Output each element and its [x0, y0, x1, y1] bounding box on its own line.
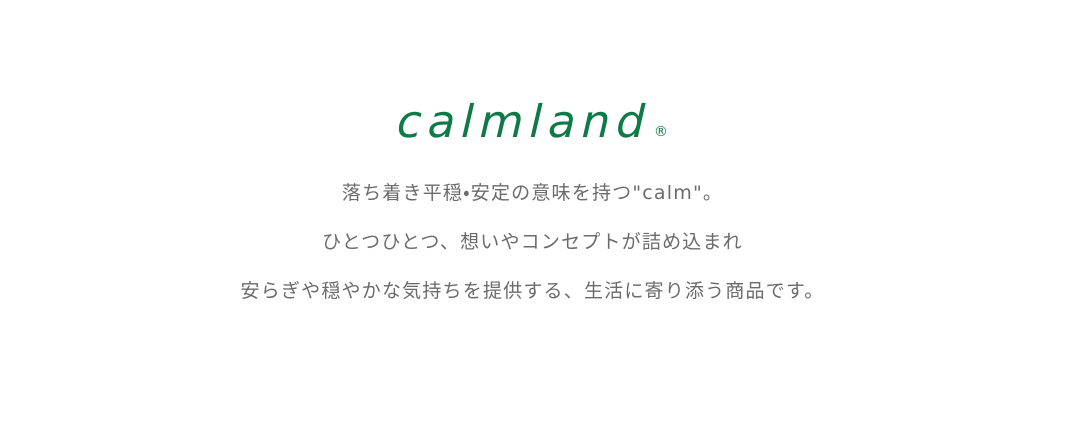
- brand-wordmark: calmland: [396, 99, 651, 144]
- description-line-2: ひとつひとつ、想いやコンセプトが詰め込まれ: [322, 218, 743, 267]
- registered-trademark-icon: ®: [654, 125, 668, 139]
- brand-logo: calmland ®: [397, 99, 668, 144]
- description-line-3: 安らぎや穏やかな気持ちを提供する、生活に寄り添う商品です。: [241, 267, 825, 316]
- brand-description: 落ち着き平穏・安定の意味を持つ"calm"。 ひとつひとつ、想いやコンセプトが詰…: [241, 169, 825, 316]
- description-line-1: 落ち着き平穏・安定の意味を持つ"calm"。: [342, 169, 723, 218]
- brand-concept-page: calmland ® 落ち着き平穏・安定の意味を持つ"calm"。 ひとつひとつ…: [0, 0, 1065, 423]
